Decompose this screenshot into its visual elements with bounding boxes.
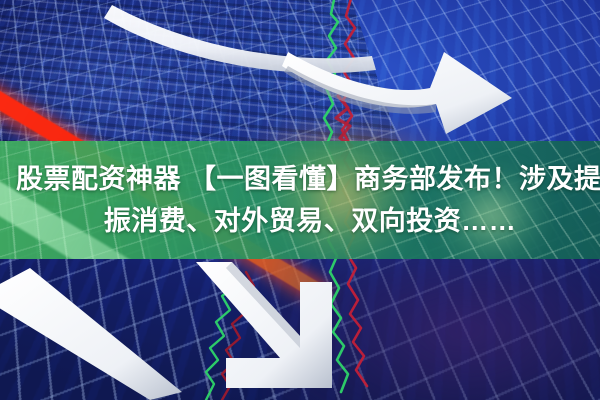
headline-line-2: 振消费、对外贸易、双向投资…… xyxy=(84,200,517,242)
headline-line-1: 股票配资神器 【一图看懂】商务部发布！涉及提 xyxy=(6,158,600,200)
arrow-tail-bottom-left-icon xyxy=(0,268,182,400)
arrow-down-right-icon xyxy=(196,262,332,388)
banner-image: 股票配资神器 【一图看懂】商务部发布！涉及提 振消费、对外贸易、双向投资…… xyxy=(0,0,600,400)
green-caption-band: 股票配资神器 【一图看懂】商务部发布！涉及提 振消费、对外贸易、双向投资…… xyxy=(0,141,600,259)
headline-text-block: 股票配资神器 【一图看懂】商务部发布！涉及提 振消费、对外贸易、双向投资…… xyxy=(0,141,600,259)
arc-sweep-top-icon xyxy=(104,5,376,73)
